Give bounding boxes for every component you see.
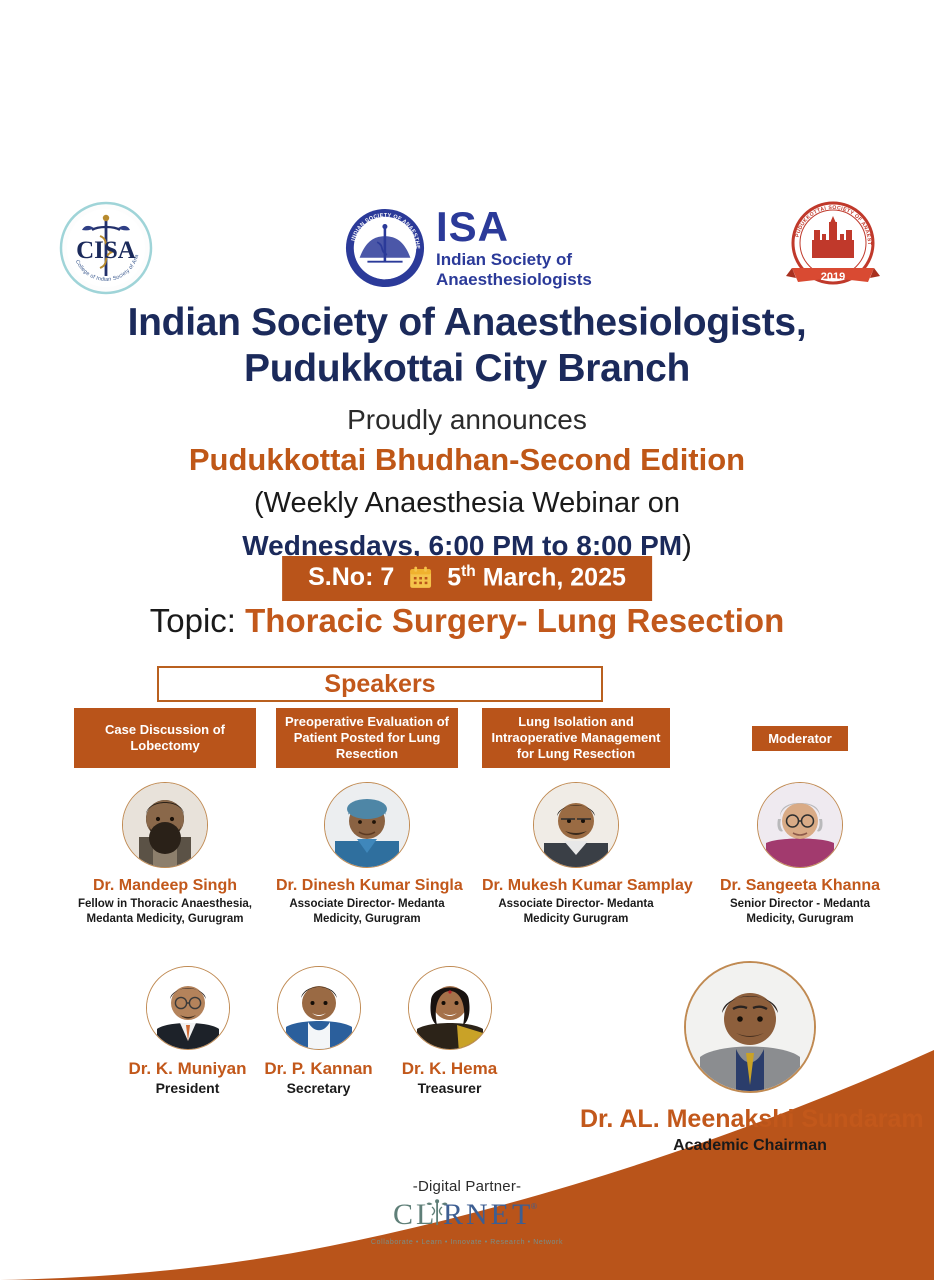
moderator-portrait [757,782,843,868]
date-day-suffix: th [461,563,476,580]
speaker-affiliation-line2: Medicity Gurugram [482,912,670,927]
edition-title: Pudukkottai Bhudhan-Second Edition [0,440,934,480]
org-title-line1: Indian Society of Anaesthesiologists, [0,300,934,346]
digital-partner-label: -Digital Partner- [0,1178,934,1195]
speaker-affiliation-line1: Associate Director- Medanta [482,897,670,912]
isa-seal-icon: INDIAN SOCIETY OF ANAESTHESIOLOGISTS FOU… [344,207,426,289]
speaker-name: Dr. Mandeep Singh [74,876,256,895]
speaker-portrait [533,782,619,868]
org-title-line2: Pudukkottai City Branch [0,346,934,392]
speaker-affiliation-line2: Medicity, Gurugram [276,912,458,927]
moderator-affiliation-line2: Medicity, Gurugram [700,912,900,927]
office-bearer-portrait [146,966,230,1050]
speaker-topic-box: Preoperative Evaluation of Patient Poste… [276,708,458,768]
event-date: 5th March, 2025 [447,563,626,592]
isa-logo: INDIAN SOCIETY OF ANAESTHESIOLOGISTS FOU… [344,202,590,294]
isa-abbreviation: ISA [436,206,592,248]
close-paren: ) [682,530,692,562]
date-month-year: March, 2025 [476,563,626,591]
isa-name-line1: Indian Society of [436,250,592,270]
webinar-poster: CISA College of Indian Society of Anaest… [0,0,934,1280]
speaker-topic-box: Case Discussion of Lobectomy [74,708,256,768]
moderator-name: Dr. Sangeeta Khanna [700,876,900,895]
topic-label: Topic: [150,602,245,639]
footer: -Digital Partner- CL RNET ® Collaborate … [0,1178,934,1246]
speaker-portrait [324,782,410,868]
webinar-description: (Weekly Anaesthesia Webinar on [0,485,934,523]
academic-chairman-name: Dr. AL. Meenakshi Sundaram [580,1105,920,1134]
office-bearer-role: Treasurer [357,1080,542,1096]
proudly-announces-text: Proudly announces [0,402,934,438]
speaker-topic-box: Lung Isolation and Intraoperative Manage… [482,708,670,768]
branch-seal-year: 2019 [821,271,845,283]
date-day: 5 [447,563,461,591]
academic-chairman-card: Dr. AL. Meenakshi Sundaram Academic Chai… [580,961,920,1155]
speaker-portrait [122,782,208,868]
svg-text:RNET: RNET [443,1198,533,1231]
logo-row: CISA College of Indian Society of Anaest… [0,196,934,300]
isa-name-line2: Anaesthesiologists [436,270,592,290]
moderator-badge: Moderator [752,726,848,751]
clirnet-logo: CL RNET ® [0,1197,934,1238]
organization-title: Indian Society of Anaesthesiologists, Pu… [0,300,934,392]
cisa-logo: CISA College of Indian Society of Anaest… [58,200,154,296]
topic-line: Topic: Thoracic Surgery- Lung Resection [0,602,934,640]
speakers-header-label: Speakers [324,670,435,699]
clirnet-tagline: Collaborate • Learn • Innovate • Researc… [0,1239,934,1246]
serial-number-label: S.No: 7 [308,563,394,592]
speakers-header-box: Speakers [157,666,603,702]
speaker-affiliation-line2: Medanta Medicity, Gurugram [74,912,256,927]
speaker-card: Preoperative Evaluation of Patient Poste… [276,708,458,927]
moderator-card: Moderator Dr. Sangeeta Khanna [700,708,900,927]
office-bearer: Dr. K. Hema Treasurer [357,966,542,1096]
speaker-name: Dr. Mukesh Kumar Samplay [482,876,670,895]
calendar-icon [408,565,433,590]
announcement-block: Proudly announces Pudukkottai Bhudhan-Se… [0,402,934,566]
academic-chairman-portrait [684,961,816,1093]
speaker-affiliation-line1: Associate Director- Medanta [276,897,458,912]
speaker-affiliation-line1: Fellow in Thoracic Anaesthesia, [74,897,256,912]
speaker-card: Lung Isolation and Intraoperative Manage… [482,708,670,927]
speaker-name: Dr. Dinesh Kumar Singla [276,876,458,895]
branch-seal-logo: PUDUKKOTTAI SOCIETY OF ANAESTHESIOLOGIST… [784,198,882,298]
office-bearer-name: Dr. K. Hema [357,1059,542,1079]
academic-chairman-role: Academic Chairman [580,1137,920,1155]
svg-text:®: ® [531,1202,537,1211]
speaker-card: Case Discussion of Lobectomy Dr. Mandeep… [74,708,256,927]
date-banner: S.No: 7 5th March, 2025 [282,556,652,601]
topic-value: Thoracic Surgery- Lung Resection [245,602,784,639]
moderator-affiliation-line1: Senior Director - Medanta [700,897,900,912]
office-bearer-portrait [277,966,361,1050]
svg-text:CISA: CISA [76,237,136,264]
office-bearer-portrait [408,966,492,1050]
